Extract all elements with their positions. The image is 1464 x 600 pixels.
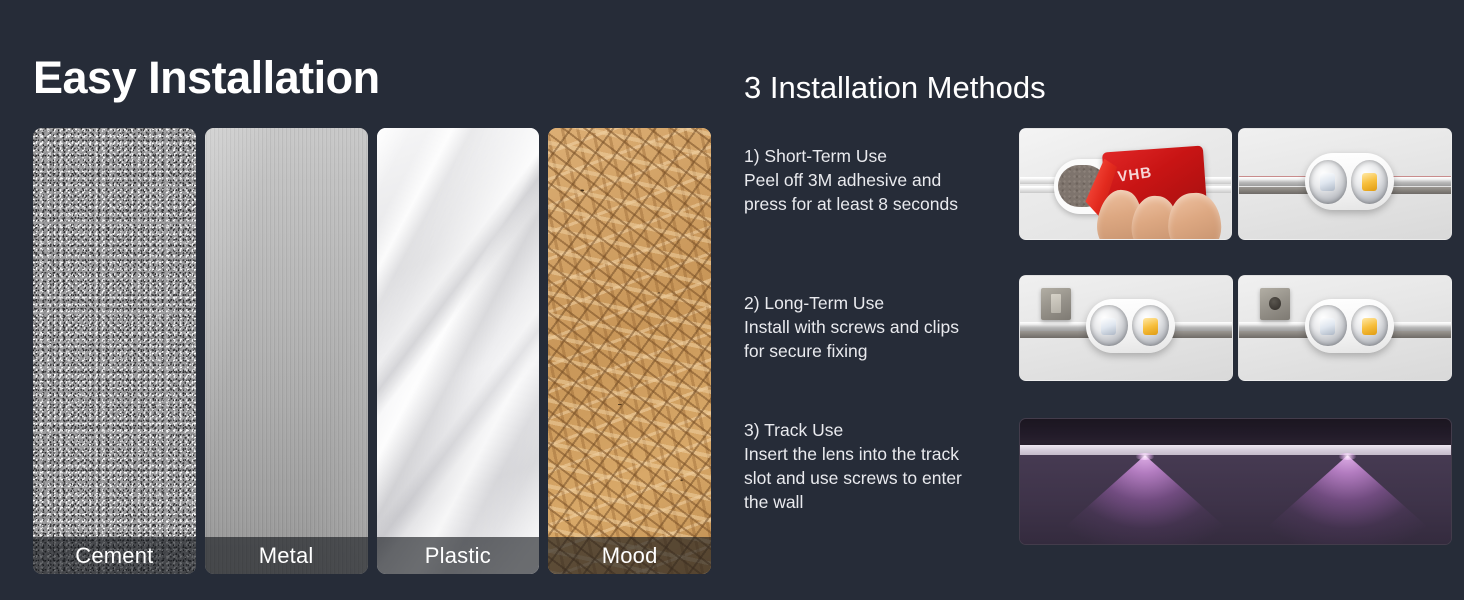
method-1-heading: 1) Short-Term Use [744, 144, 1014, 168]
swatch-cement: Cement [33, 128, 196, 574]
swatch-label-bar: Cement [33, 537, 196, 574]
swatch-mood: Mood [548, 128, 711, 574]
wood-osb-texture [548, 128, 711, 574]
photo-led-module-with-screw-clip [1238, 275, 1452, 381]
swatch-label-plastic: Plastic [425, 543, 491, 569]
led-chip [1320, 318, 1335, 335]
led-lens-cool [1309, 160, 1346, 203]
swatch-label-bar: Metal [205, 537, 368, 574]
clip-bracket [1051, 294, 1062, 313]
led-module-body [1086, 299, 1175, 353]
led-module-body [1305, 299, 1394, 353]
led-chip [1143, 318, 1158, 335]
swatch-label-bar: Mood [548, 537, 711, 574]
method-3-text: 3) Track Use Insert the lens into the tr… [744, 418, 1024, 514]
led-lens-warm [1351, 160, 1388, 203]
metal-texture [205, 128, 368, 574]
photo-led-module-mounted [1238, 128, 1452, 240]
material-swatch-gallery: Cement Metal Plastic Mood [33, 128, 711, 574]
page-title: Easy Installation [33, 55, 380, 100]
method-1-description: Peel off 3M adhesive and press for at le… [744, 168, 1014, 216]
cement-texture [33, 128, 196, 574]
methods-title: 3 Installation Methods [744, 72, 1046, 103]
method-1-text: 1) Short-Term Use Peel off 3M adhesive a… [744, 144, 1014, 216]
photo-track-purple-light-cones [1019, 418, 1452, 545]
led-lens-cool [1309, 305, 1346, 346]
led-chip [1362, 318, 1377, 335]
led-chip [1320, 173, 1335, 191]
swatch-label-cement: Cement [75, 543, 153, 569]
easy-installation-panel: Easy Installation Cement Metal Plastic M… [0, 0, 720, 600]
swatch-label-mood: Mood [602, 543, 658, 569]
led-lens-warm [1351, 305, 1388, 346]
plastic-texture [377, 128, 540, 574]
screw-head [1269, 297, 1281, 310]
led-lens-warm [1132, 305, 1169, 346]
led-module-body [1305, 153, 1394, 210]
photo-peel-adhesive: VHB [1019, 128, 1232, 240]
mounting-clip [1041, 288, 1071, 319]
method-2-text: 2) Long-Term Use Install with screws and… [744, 291, 1014, 363]
led-chip [1362, 173, 1377, 191]
swatch-label-bar: Plastic [377, 537, 540, 574]
photo-led-module-with-clip [1019, 275, 1233, 381]
mounting-clip-with-screw [1260, 288, 1290, 319]
installation-methods-panel: 3 Installation Methods 1) Short-Term Use… [720, 0, 1464, 600]
led-emitter [1136, 453, 1153, 459]
ceiling-surface [1020, 419, 1451, 445]
method-3-description: Insert the lens into the track slot and … [744, 442, 1024, 514]
method-2-heading: 2) Long-Term Use [744, 291, 1014, 315]
method-3-heading: 3) Track Use [744, 418, 1024, 442]
track-rail [1020, 445, 1451, 455]
swatch-plastic: Plastic [377, 128, 540, 574]
swatch-metal: Metal [205, 128, 368, 574]
vhb-tape-label: VHB [1117, 164, 1154, 186]
swatch-label-metal: Metal [259, 543, 314, 569]
led-emitter [1339, 453, 1356, 459]
method-2-description: Install with screws and clips for secure… [744, 315, 1014, 363]
led-lens-cool [1090, 305, 1127, 346]
led-chip [1101, 318, 1116, 335]
